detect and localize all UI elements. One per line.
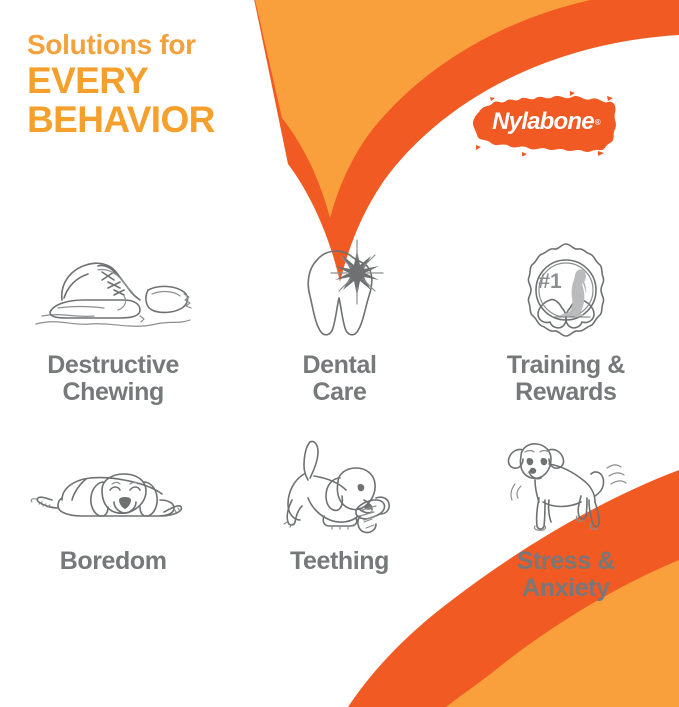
- headline-line-2: EVERY: [27, 62, 327, 99]
- behavior-item-teething: Teething: [226, 434, 452, 618]
- behavior-item-destructive-chewing: Destructive Chewing: [0, 238, 226, 434]
- behavior-label: Destructive Chewing: [47, 352, 179, 406]
- behavior-grid: Destructive Chewing Dental Care: [0, 238, 679, 618]
- poster-canvas: Solutions for EVERY BEHAVIOR Nylabone®: [0, 0, 679, 707]
- behavior-item-boredom: Boredom: [0, 434, 226, 618]
- behavior-item-dental-care: Dental Care: [226, 238, 452, 434]
- behavior-label: Dental Care: [302, 352, 376, 406]
- behavior-label: Stress & Anxiety: [517, 548, 615, 602]
- bored-dog-lying-icon: [28, 434, 198, 538]
- behavior-label: Boredom: [60, 548, 167, 575]
- chewed-shoe-icon: [28, 238, 198, 342]
- behavior-item-training-rewards: #1 Training & Rewards: [453, 238, 679, 434]
- award-rosette-icon: #1: [506, 238, 626, 342]
- behavior-label: Teething: [290, 548, 389, 575]
- behavior-label: Training & Rewards: [507, 352, 625, 406]
- badge-number-text: #1: [538, 270, 562, 293]
- logo-wordmark: Nylabone®: [470, 88, 620, 156]
- anxious-dog-icon: [491, 434, 641, 538]
- nylabone-logo: Nylabone®: [470, 88, 620, 156]
- logo-brand-text: Nylabone: [492, 108, 594, 136]
- puppy-chewing-toy-icon: [264, 434, 414, 538]
- headline-line-3: BEHAVIOR: [27, 101, 327, 138]
- logo-trademark-symbol: ®: [595, 118, 600, 127]
- headline-line-1: Solutions for: [27, 31, 327, 59]
- sparkling-tooth-icon: [279, 238, 399, 342]
- behavior-item-stress-anxiety: Stress & Anxiety: [453, 434, 679, 618]
- headline-block: Solutions for EVERY BEHAVIOR: [27, 31, 327, 140]
